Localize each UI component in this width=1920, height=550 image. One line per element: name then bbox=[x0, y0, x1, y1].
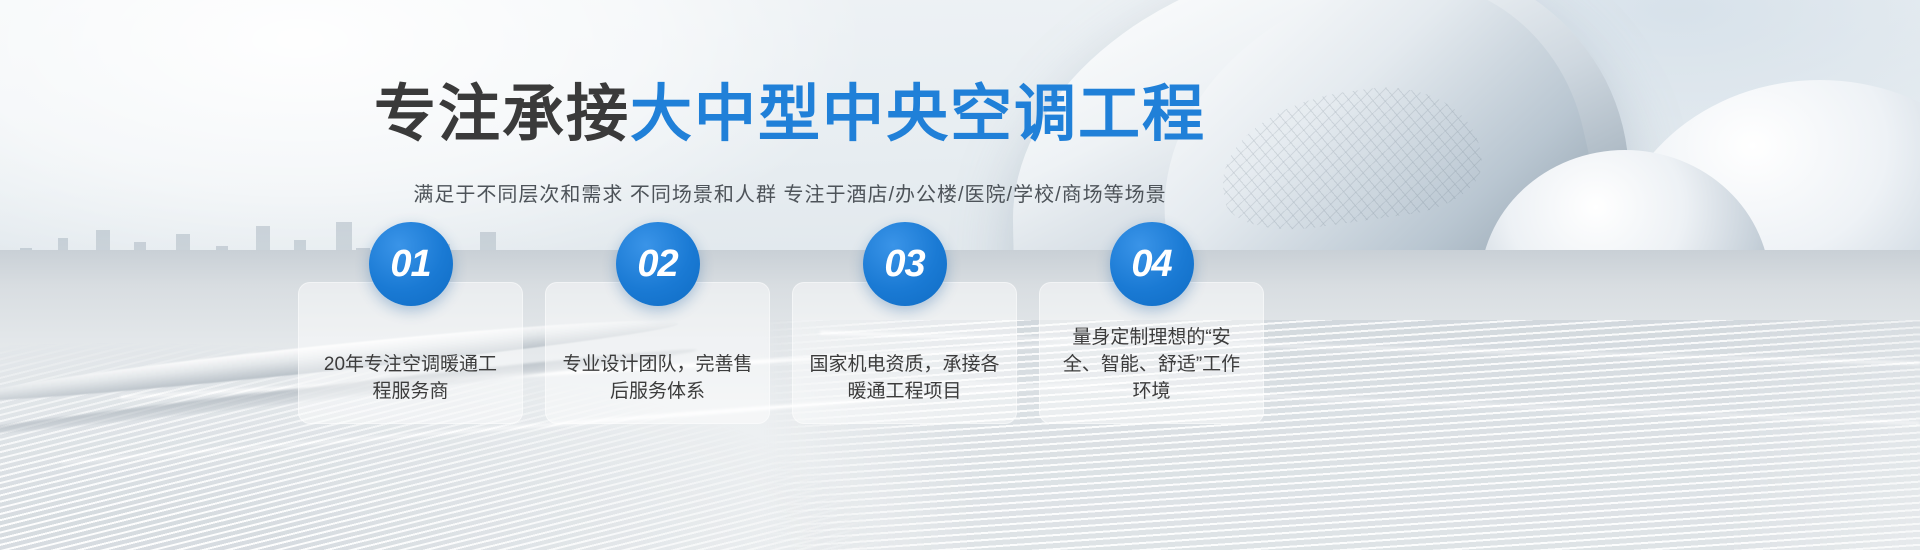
feature-card-list: 01 20年专注空调暖通工程服务商 02 专业设计团队，完善售后服务体系 03 … bbox=[298, 282, 1288, 424]
card-description: 国家机电资质，承接各暖通工程项目 bbox=[810, 352, 1000, 424]
page-subtitle: 满足于不同层次和需求 不同场景和人群 专注于酒店/办公楼/医院/学校/商场等场景 bbox=[0, 178, 1580, 207]
card-description: 20年专注空调暖通工程服务商 bbox=[316, 352, 506, 424]
feature-card[interactable]: 04 量身定制理想的“安全、智能、舒适”工作环境 bbox=[1039, 282, 1264, 424]
card-number-badge: 02 bbox=[616, 222, 700, 306]
card-number-badge: 04 bbox=[1110, 222, 1194, 306]
feature-card[interactable]: 02 专业设计团队，完善售后服务体系 bbox=[545, 282, 770, 424]
headline-blue-part: 大中型中央空调工程 bbox=[630, 80, 1206, 149]
card-number: 01 bbox=[390, 243, 430, 286]
card-number: 03 bbox=[884, 243, 924, 286]
card-number: 04 bbox=[1131, 243, 1171, 286]
feature-card[interactable]: 03 国家机电资质，承接各暖通工程项目 bbox=[792, 282, 1017, 424]
headline-dark-part: 专注承接 bbox=[374, 80, 630, 149]
card-number-badge: 03 bbox=[863, 222, 947, 306]
feature-card[interactable]: 01 20年专注空调暖通工程服务商 bbox=[298, 282, 523, 424]
card-description: 量身定制理想的“安全、智能、舒适”工作环境 bbox=[1057, 325, 1247, 424]
card-number: 02 bbox=[637, 243, 677, 286]
page-title: 专注承接大中型中央空调工程 bbox=[0, 82, 1580, 148]
hero-banner: 专注承接大中型中央空调工程 满足于不同层次和需求 不同场景和人群 专注于酒店/办… bbox=[0, 0, 1920, 550]
card-description: 专业设计团队，完善售后服务体系 bbox=[563, 352, 753, 424]
card-number-badge: 01 bbox=[369, 222, 453, 306]
